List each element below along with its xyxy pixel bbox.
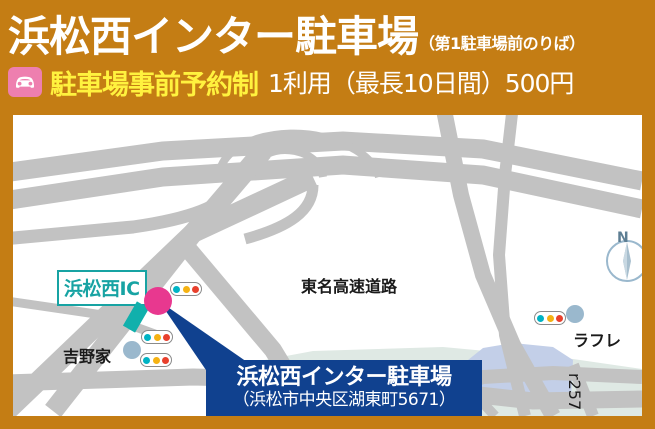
reservation-notice-label: 駐車場事前予約制 bbox=[50, 63, 258, 102]
callout-title: 浜松西インター駐車場 bbox=[210, 366, 478, 390]
page-title: 浜松西インター駐車場 bbox=[8, 16, 418, 58]
notice-row: 駐車場事前予約制 1利用（最長10日間）500円 bbox=[8, 64, 573, 100]
title-row: 浜松西インター駐車場 （第1駐車場前のりば） bbox=[8, 2, 653, 58]
poi-dot-yoshinoya bbox=[123, 341, 141, 359]
poster-header: 浜松西インター駐車場 （第1駐車場前のりば） 駐車場事前予約制 1利用（最長10… bbox=[0, 0, 655, 108]
callout-address: （浜松市中央区湖東町5671） bbox=[210, 391, 478, 411]
parking-callout-box: 浜松西インター駐車場 （浜松市中央区湖東町5671） bbox=[206, 360, 482, 419]
traffic-signal-icon bbox=[534, 311, 566, 325]
poi-dot-lafre bbox=[566, 305, 584, 323]
car-icon bbox=[8, 67, 42, 97]
traffic-signal-icon bbox=[170, 282, 202, 296]
parking-location-marker bbox=[144, 287, 172, 315]
traffic-signal-icon bbox=[140, 353, 172, 367]
parking-info-poster: 浜松西インター駐車場 （第1駐車場前のりば） 駐車場事前予約制 1利用（最長10… bbox=[0, 0, 655, 429]
price-label: 1利用（最長10日間）500円 bbox=[268, 64, 573, 100]
page-subtitle: （第1駐車場前のりば） bbox=[419, 30, 585, 58]
label-hamamatsu-nishi-ic: 浜松西IC bbox=[57, 270, 147, 306]
traffic-signal-icon bbox=[141, 330, 173, 344]
compass-icon bbox=[605, 239, 647, 283]
location-map: N 浜松西IC 東名高速道路 ラフレ 本田技研 航空自衛隊 浜松基地 浜松環状線… bbox=[8, 110, 647, 421]
